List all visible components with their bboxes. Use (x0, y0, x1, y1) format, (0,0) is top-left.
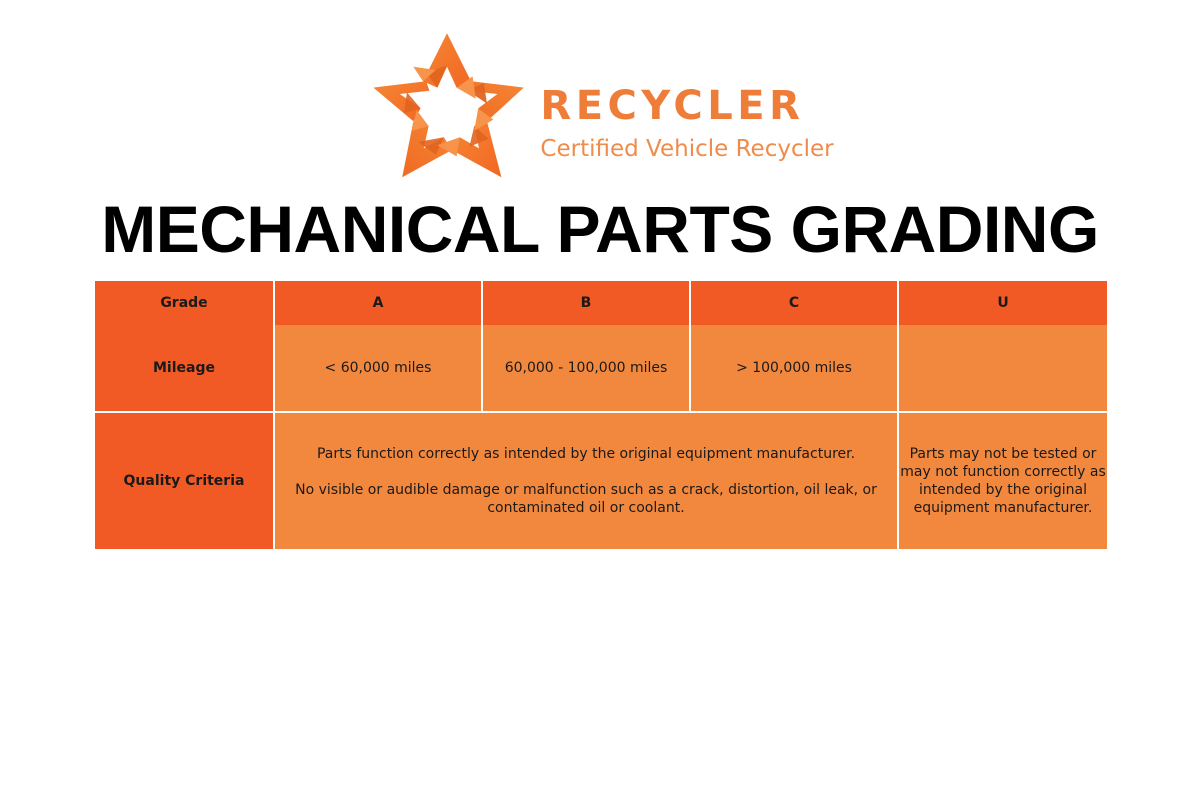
table-row-quality-criteria: Quality Criteria Parts function correctl… (95, 413, 1107, 549)
mileage-grade-b: 60,000 - 100,000 miles (483, 325, 691, 413)
row-label-quality-criteria: Quality Criteria (95, 413, 275, 549)
quality-criteria-merged-abc: Parts function correctly as intended by … (275, 413, 899, 549)
table-header-row: Grade A B C U (95, 281, 1107, 325)
quality-criteria-paragraph-1: Parts function correctly as intended by … (275, 445, 897, 463)
brand-wordmark: RECYCLER Certified Vehicle Recycler (540, 52, 833, 161)
page-root: RECYCLER Certified Vehicle Recycler MECH… (0, 0, 1200, 800)
page-title: MECHANICAL PARTS GRADING (0, 196, 1200, 262)
quality-criteria-u-text: Parts may not be tested or may not funct… (899, 445, 1107, 518)
recycling-star-logo-icon (366, 30, 528, 182)
header-cell-c: C (691, 281, 899, 325)
brand-logo: RECYCLER Certified Vehicle Recycler (0, 28, 1200, 184)
row-label-mileage: Mileage (95, 325, 275, 413)
header-cell-b: B (483, 281, 691, 325)
mileage-grade-c: > 100,000 miles (691, 325, 899, 413)
header-cell-a: A (275, 281, 483, 325)
header-cell-u: U (899, 281, 1107, 325)
mechanical-parts-grading-table: Grade A B C U Mileage < 60,000 miles 60,… (95, 281, 1107, 549)
brand-name: RECYCLER (540, 86, 804, 126)
header-cell-grade: Grade (95, 281, 275, 325)
mileage-grade-u (899, 325, 1107, 413)
brand-tagline: Certified Vehicle Recycler (540, 138, 833, 161)
mileage-grade-a: < 60,000 miles (275, 325, 483, 413)
table-row-mileage: Mileage < 60,000 miles 60,000 - 100,000 … (95, 325, 1107, 413)
quality-criteria-paragraph-2: No visible or audible damage or malfunct… (275, 481, 897, 517)
quality-criteria-grade-u: Parts may not be tested or may not funct… (899, 413, 1107, 549)
